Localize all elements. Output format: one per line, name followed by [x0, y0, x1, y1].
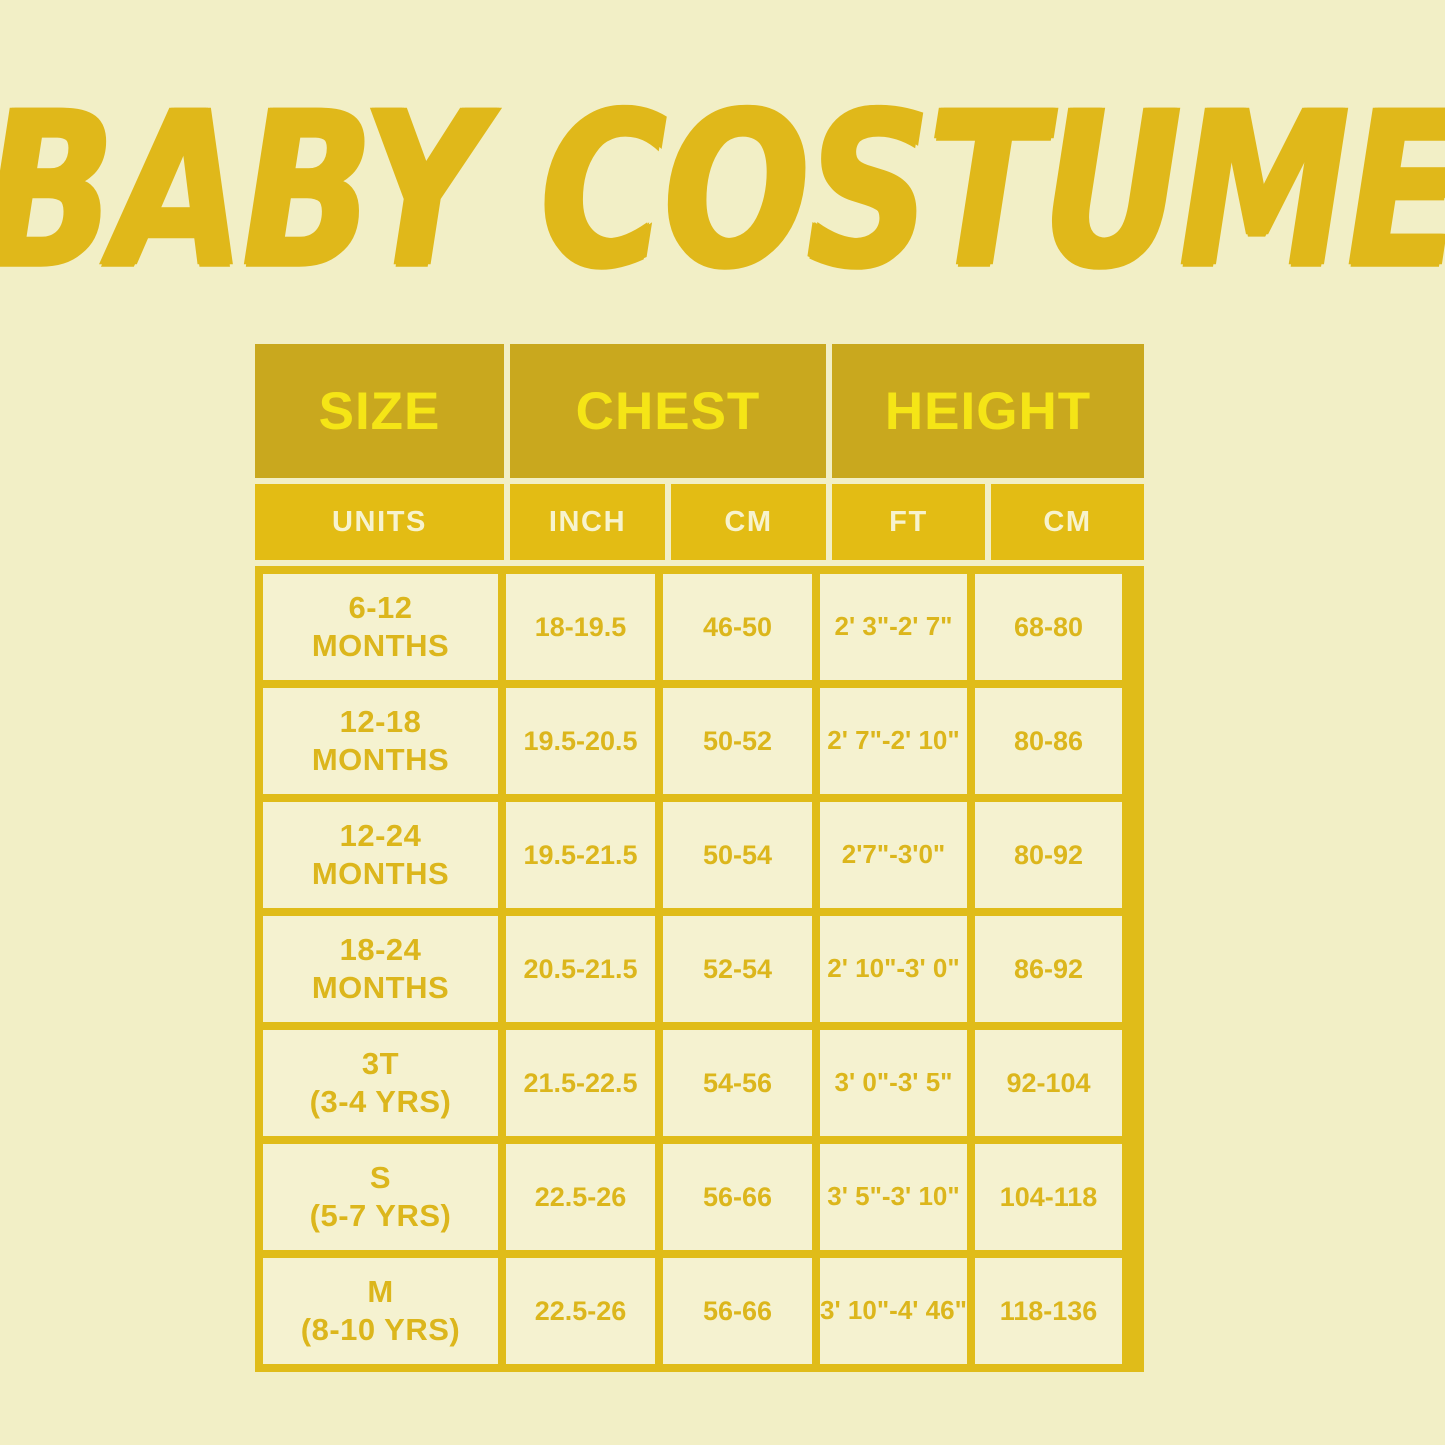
group-header-size: SIZE [255, 344, 504, 478]
cell-size: M(8-10 YRS) [263, 1258, 498, 1364]
table-row: 6-12MONTHS18-19.546-502' 3"-2' 7"68-80 [263, 574, 1136, 680]
table-row: M(8-10 YRS)22.5-2656-663' 10"-4' 46"118-… [263, 1258, 1136, 1364]
group-header-height-label: HEIGHT [885, 381, 1091, 442]
cell-size: S(5-7 YRS) [263, 1144, 498, 1250]
table-row: 18-24MONTHS20.5-21.552-542' 10"-3' 0"86-… [263, 916, 1136, 1022]
table-row: S(5-7 YRS)22.5-2656-663' 5"-3' 10"104-11… [263, 1144, 1136, 1250]
cell-chest-inch: 19.5-20.5 [506, 688, 655, 794]
group-header-size-label: SIZE [319, 381, 441, 442]
cell-height-cm: 118-136 [975, 1258, 1122, 1364]
cell-size: 12-24MONTHS [263, 802, 498, 908]
table-sub-header-row: UNITS INCH CM FT CM [255, 484, 1144, 560]
table-group-header-row: SIZE CHEST HEIGHT [255, 344, 1144, 478]
group-header-height: HEIGHT [832, 344, 1144, 478]
cell-height-ft: 3' 0"-3' 5" [820, 1030, 967, 1136]
cell-size: 3T(3-4 YRS) [263, 1030, 498, 1136]
cell-height-ft: 2' 7"-2' 10" [820, 688, 967, 794]
cell-chest-inch: 21.5-22.5 [506, 1030, 655, 1136]
cell-height-ft: 3' 5"-3' 10" [820, 1144, 967, 1250]
sub-header-chest-inch: INCH [510, 484, 665, 560]
cell-chest-inch: 18-19.5 [506, 574, 655, 680]
cell-size: 18-24MONTHS [263, 916, 498, 1022]
cell-chest-cm: 52-54 [663, 916, 812, 1022]
cell-chest-inch: 20.5-21.5 [506, 916, 655, 1022]
table-row: 12-24MONTHS19.5-21.550-542'7"-3'0"80-92 [263, 802, 1136, 908]
page-title-text: BABY COSTUME [0, 89, 1445, 293]
cell-chest-cm: 56-66 [663, 1144, 812, 1250]
group-header-chest-label: CHEST [576, 381, 761, 442]
sub-header-height-ft-label: FT [889, 506, 928, 539]
page-title: BABY COSTUME [0, 76, 1445, 306]
table-row: 3T(3-4 YRS)21.5-22.554-563' 0"-3' 5"92-1… [263, 1030, 1136, 1136]
sub-header-height-ft: FT [832, 484, 985, 560]
cell-chest-cm: 46-50 [663, 574, 812, 680]
table-row: 12-18MONTHS19.5-20.550-522' 7"-2' 10"80-… [263, 688, 1136, 794]
cell-chest-inch: 22.5-26 [506, 1144, 655, 1250]
sub-header-chest-inch-label: INCH [549, 506, 626, 539]
sub-header-chest-cm-label: CM [724, 506, 772, 539]
cell-chest-cm: 56-66 [663, 1258, 812, 1364]
cell-height-ft: 2' 3"-2' 7" [820, 574, 967, 680]
cell-size: 6-12MONTHS [263, 574, 498, 680]
cell-height-cm: 80-86 [975, 688, 1122, 794]
cell-height-ft: 3' 10"-4' 46" [820, 1258, 967, 1364]
sub-header-units: UNITS [255, 484, 504, 560]
table-body: 6-12MONTHS18-19.546-502' 3"-2' 7"68-8012… [255, 566, 1144, 1372]
cell-height-ft: 2' 10"-3' 0" [820, 916, 967, 1022]
size-chart-table: SIZE CHEST HEIGHT UNITS INCH CM FT CM 6-… [255, 344, 1144, 1372]
cell-chest-cm: 54-56 [663, 1030, 812, 1136]
cell-height-ft: 2'7"-3'0" [820, 802, 967, 908]
cell-height-cm: 80-92 [975, 802, 1122, 908]
sub-header-units-label: UNITS [332, 506, 427, 539]
sub-header-chest-cm: CM [671, 484, 826, 560]
cell-chest-inch: 22.5-26 [506, 1258, 655, 1364]
cell-chest-cm: 50-52 [663, 688, 812, 794]
cell-chest-inch: 19.5-21.5 [506, 802, 655, 908]
cell-height-cm: 104-118 [975, 1144, 1122, 1250]
cell-height-cm: 92-104 [975, 1030, 1122, 1136]
cell-size: 12-18MONTHS [263, 688, 498, 794]
cell-height-cm: 68-80 [975, 574, 1122, 680]
cell-height-cm: 86-92 [975, 916, 1122, 1022]
cell-chest-cm: 50-54 [663, 802, 812, 908]
sub-header-height-cm: CM [991, 484, 1144, 560]
group-header-chest: CHEST [510, 344, 826, 478]
sub-header-height-cm-label: CM [1043, 506, 1091, 539]
